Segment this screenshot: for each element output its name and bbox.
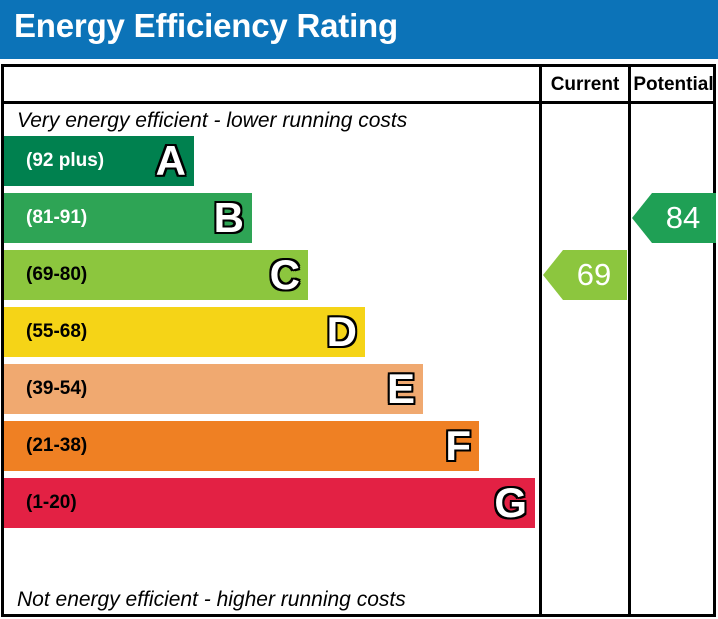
band-range-b: (81-91)	[26, 193, 87, 243]
rating-band-g: (1-20)G	[4, 478, 535, 528]
rating-band-e: (39-54)E	[4, 364, 423, 414]
column-header-current: Current	[542, 71, 628, 99]
band-letter-e: E	[387, 364, 415, 414]
header-row-divider	[1, 101, 716, 104]
energy-efficiency-rating-chart: Energy Efficiency Rating Current Potenti…	[0, 0, 718, 619]
band-letter-f: F	[445, 421, 471, 471]
band-range-e: (39-54)	[26, 364, 87, 414]
band-letter-a: A	[156, 136, 186, 186]
band-range-f: (21-38)	[26, 421, 87, 471]
rating-band-c: (69-80)C	[4, 250, 308, 300]
band-range-a: (92 plus)	[26, 136, 104, 186]
rating-band-f: (21-38)F	[4, 421, 479, 471]
rating-band-a: (92 plus)A	[4, 136, 194, 186]
potential-rating-value: 84	[654, 193, 712, 243]
band-range-c: (69-80)	[26, 250, 87, 300]
page-title: Energy Efficiency Rating	[14, 7, 398, 45]
rating-band-d: (55-68)D	[4, 307, 365, 357]
caption-very-efficient: Very energy efficient - lower running co…	[17, 109, 407, 133]
chart-title-bar: Energy Efficiency Rating	[0, 0, 718, 59]
potential-rating-marker: 84	[632, 193, 716, 243]
current-column-divider	[539, 64, 542, 617]
band-range-d: (55-68)	[26, 307, 87, 357]
band-letter-g: G	[494, 478, 527, 528]
band-letter-c: C	[270, 250, 300, 300]
current-rating-value: 69	[565, 250, 623, 300]
potential-column-divider	[628, 64, 631, 617]
column-header-potential: Potential	[631, 71, 716, 99]
caption-not-efficient: Not energy efficient - higher running co…	[17, 588, 406, 612]
band-letter-b: B	[214, 193, 244, 243]
current-rating-marker: 69	[543, 250, 627, 300]
band-letter-d: D	[327, 307, 357, 357]
band-range-g: (1-20)	[26, 478, 77, 528]
rating-band-b: (81-91)B	[4, 193, 252, 243]
